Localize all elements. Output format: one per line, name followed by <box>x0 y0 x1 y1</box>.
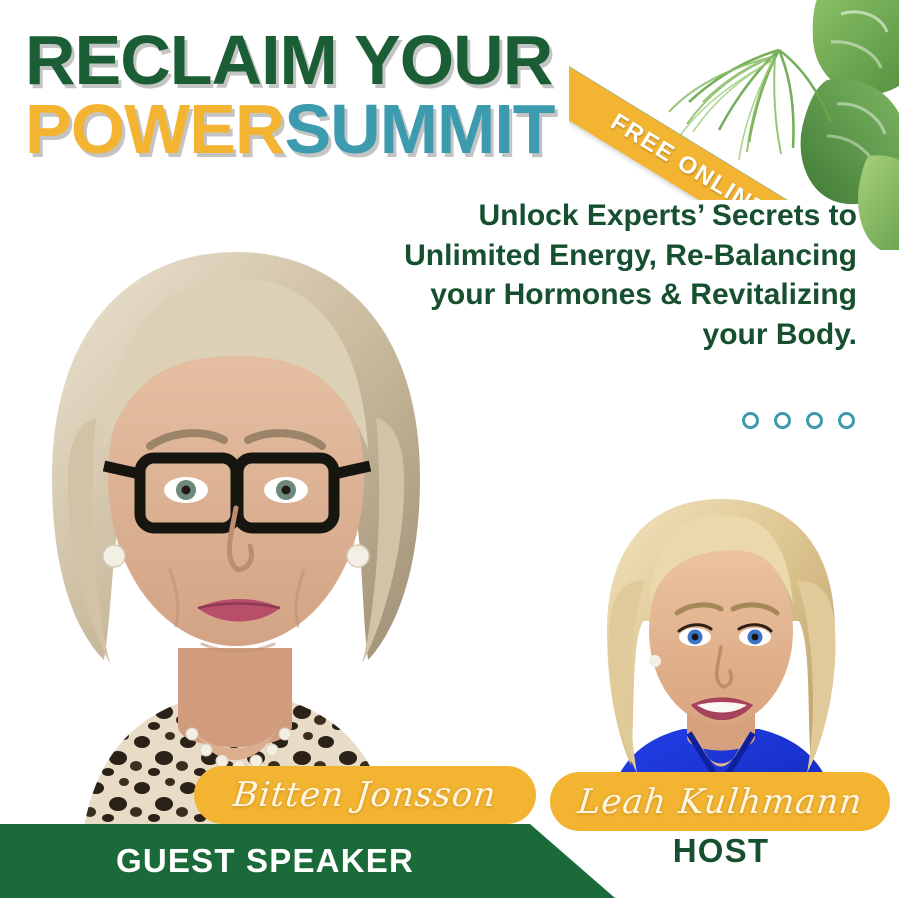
dot-icon <box>806 412 823 429</box>
dot-icon <box>774 412 791 429</box>
page-title: RECLAIM YOUR POWERSUMMIT <box>25 26 555 163</box>
subtitle-text: Unlock Experts’ Secrets to Unlimited Ene… <box>402 196 857 354</box>
host-name: Leah Kulhmann <box>576 782 865 822</box>
ribbon-label: FREE ONLINE EVENT <box>569 49 899 200</box>
dot-icon <box>838 412 855 429</box>
host-label: HOST <box>571 832 871 870</box>
speaker-name-pill: Bitten Jonsson <box>194 766 536 824</box>
speaker-name: Bitten Jonsson <box>231 775 498 815</box>
decorative-dots <box>742 412 855 429</box>
title-word-summit: SUMMIT <box>284 90 554 168</box>
title-word-power: POWER <box>25 90 284 168</box>
guest-speaker-label: GUEST SPEAKER <box>0 824 530 898</box>
title-line-1: RECLAIM YOUR <box>25 26 555 95</box>
ribbon-teal-stripe <box>569 37 899 200</box>
ribbon-yellow-band <box>569 49 899 200</box>
title-line-2: POWERSUMMIT <box>25 95 555 164</box>
promo-poster: FREE ONLINE EVENT RECLAIM YOUR POWERSUMM… <box>0 0 899 898</box>
dot-icon <box>742 412 759 429</box>
host-name-pill: Leah Kulhmann <box>550 772 890 831</box>
free-online-event-ribbon: FREE ONLINE EVENT <box>569 0 899 200</box>
